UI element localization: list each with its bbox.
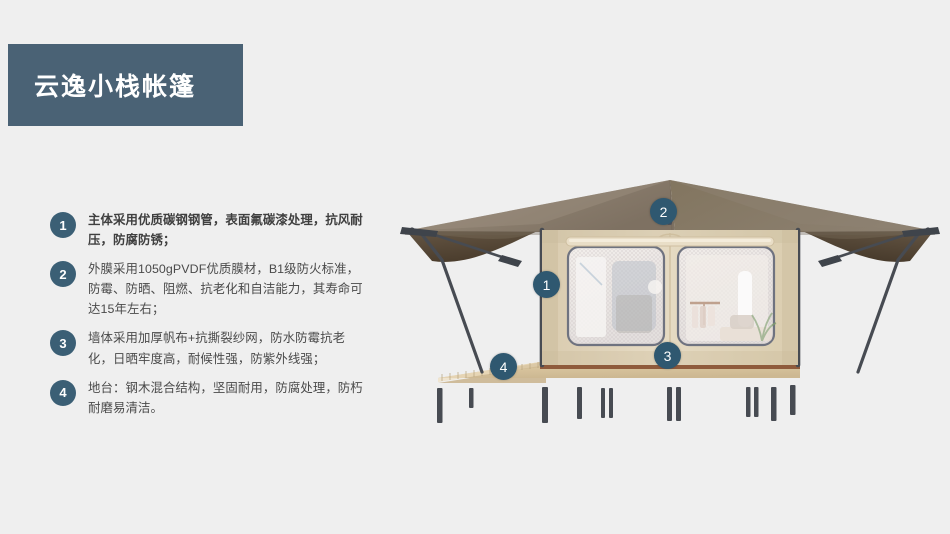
callout-badge-2[interactable]: 2 [650,198,677,225]
feature-text-2: 外膜采用1050gPVDF优质膜材，B1级防火标准，防霉、防晒、阻燃、抗老化和自… [88,259,370,319]
feature-text-3: 墙体采用加厚帆布+抗撕裂纱网，防水防霉抗老化，日晒牢度高，耐候性强，防紫外线强； [88,328,370,368]
title-banner: 云逸小栈帐篷 [8,44,243,126]
list-item: 2 外膜采用1050gPVDF优质膜材，B1级防火标准，防霉、防晒、阻燃、抗老化… [50,259,370,319]
feature-badge-2: 2 [50,261,76,287]
list-item: 1 主体采用优质碳钢钢管，表面氟碳漆处理，抗风耐压，防腐防锈； [50,210,370,250]
list-item: 4 地台：钢木混合结构，坚固耐用，防腐处理，防朽耐磨易清洁。 [50,378,370,418]
feature-text-4: 地台：钢木混合结构，坚固耐用，防腐处理，防朽耐磨易清洁。 [88,378,370,418]
window-right [678,247,776,345]
window-valance [566,237,774,246]
window-left [568,247,664,345]
feature-badge-4: 4 [50,380,76,406]
feature-text-1: 主体采用优质碳钢钢管，表面氟碳漆处理，抗风耐压，防腐防锈； [88,210,370,250]
support-legs [437,385,796,423]
page-title: 云逸小栈帐篷 [8,67,196,103]
feature-list: 1 主体采用优质碳钢钢管，表面氟碳漆处理，抗风耐压，防腐防锈； 2 外膜采用10… [50,210,370,427]
callout-badge-4[interactable]: 4 [490,353,517,380]
list-item: 3 墙体采用加厚帆布+抗撕裂纱网，防水防霉抗老化，日晒牢度高，耐候性强，防紫外线… [50,328,370,368]
feature-badge-1: 1 [50,212,76,238]
callout-badge-3[interactable]: 3 [654,342,681,369]
feature-badge-3: 3 [50,330,76,356]
callout-badge-1[interactable]: 1 [533,271,560,298]
slide-canvas: 云逸小栈帐篷 1 主体采用优质碳钢钢管，表面氟碳漆处理，抗风耐压，防腐防锈； 2… [0,0,950,534]
